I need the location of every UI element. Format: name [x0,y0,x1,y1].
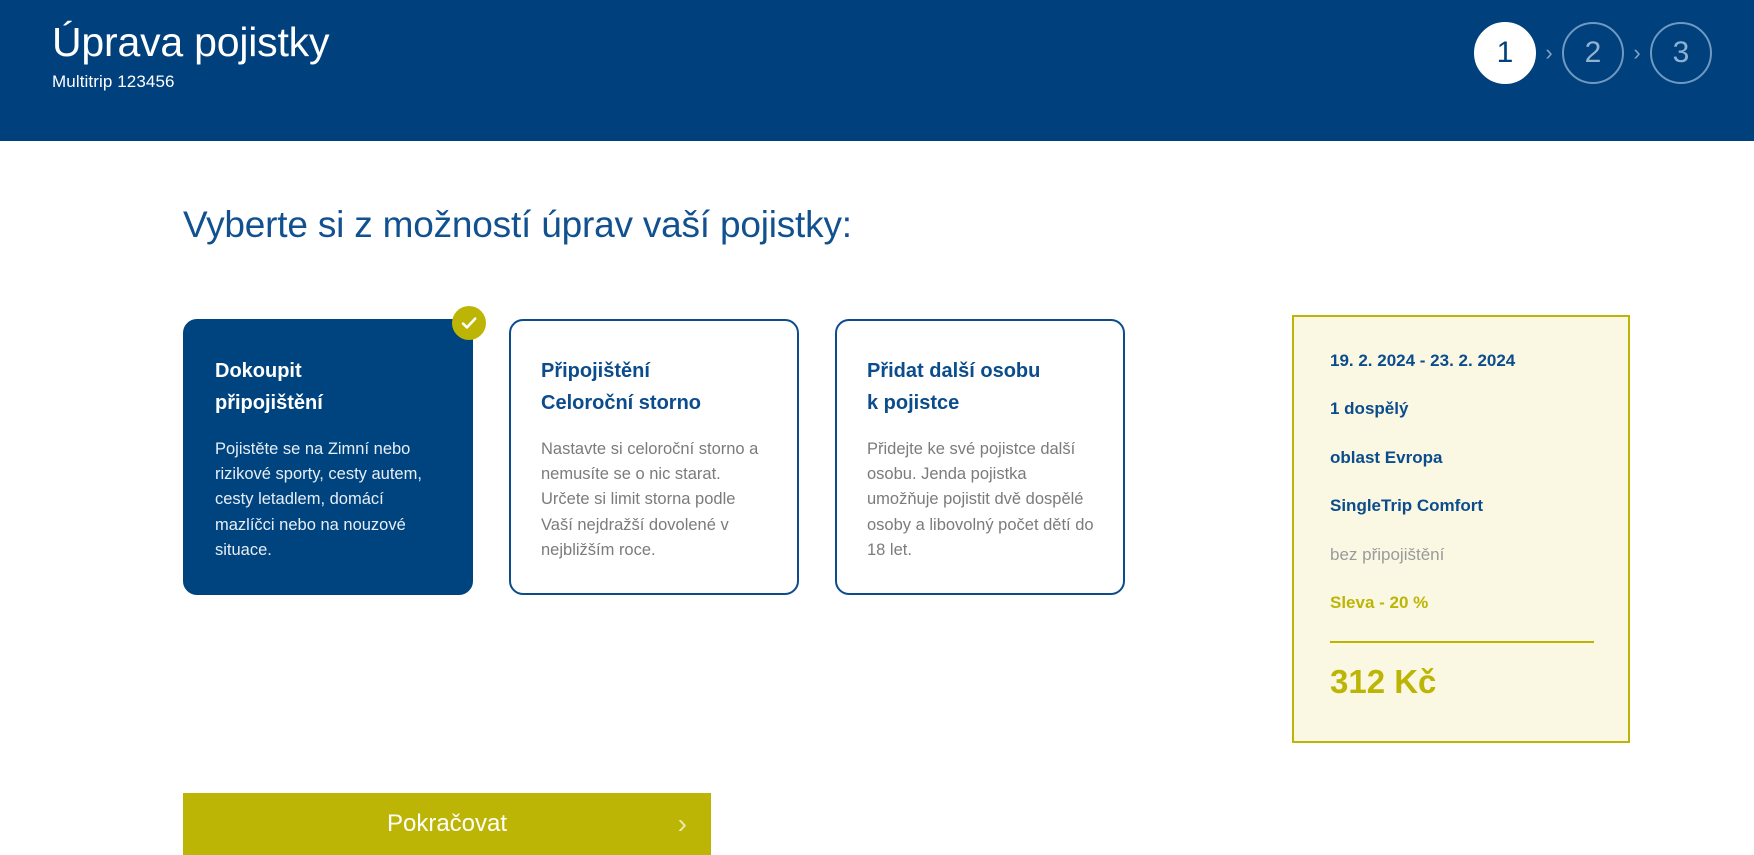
option-card-celorocni-storno[interactable]: Připojištění Celoroční storno Nastavte s… [509,319,799,595]
step-3[interactable]: 3 [1650,22,1712,84]
summary-divider [1330,641,1594,643]
step-separator-2-icon: › [1624,42,1650,64]
option-card-title: Připojištění Celoroční storno [541,355,769,419]
policy-reference: Multitrip 123456 [52,72,329,92]
summary-discount: Sleva - 20 % [1330,593,1592,613]
check-icon [452,306,486,340]
option-card-description: Nastavte si celoroční storno a nemusíte … [541,437,769,563]
step-2[interactable]: 2 [1562,22,1624,84]
policy-summary-panel: 19. 2. 2024 - 23. 2. 2024 1 dospělý obla… [1292,315,1630,743]
summary-total-price: 312 Kč [1330,665,1592,698]
summary-product: SingleTrip Comfort [1330,496,1592,516]
step-1[interactable]: 1 [1474,22,1536,84]
section-heading: Vyberte si z možností úprav vaší pojistk… [183,204,852,246]
summary-region: oblast Evropa [1330,448,1592,468]
option-card-description: Přidejte ke své pojistce další osobu. Je… [867,437,1095,563]
option-card-description: Pojistěte se na Zimní nebo rizikové spor… [215,437,443,563]
step-indicator: 1 › 2 › 3 [1474,0,1754,84]
option-card-pridat-osobu[interactable]: Přidat další osobu k pojistce Přidejte k… [835,319,1125,595]
page-root: Úprava pojistky Multitrip 123456 1 › 2 ›… [0,0,1754,796]
main-content: Vyberte si z možností úprav vaší pojistk… [0,141,1754,796]
continue-button-label: Pokračovat [387,810,507,838]
option-card-title: Přidat další osobu k pojistce [867,355,1095,419]
page-title: Úprava pojistky [52,18,329,66]
summary-addons: bez připojištění [1330,545,1592,565]
option-card-list: Dokoupit připojištění Pojistěte se na Zi… [183,319,1125,595]
step-separator-1-icon: › [1536,42,1562,64]
page-header: Úprava pojistky Multitrip 123456 1 › 2 ›… [0,0,1754,141]
summary-date-range: 19. 2. 2024 - 23. 2. 2024 [1330,351,1592,371]
option-card-dokoupit-pripojisteni[interactable]: Dokoupit připojištění Pojistěte se na Zi… [183,319,473,595]
continue-button[interactable]: Pokračovat › [183,793,711,855]
header-title-group: Úprava pojistky Multitrip 123456 [0,0,329,92]
summary-travellers: 1 dospělý [1330,399,1592,419]
option-card-title: Dokoupit připojištění [215,355,443,419]
chevron-right-icon: › [678,810,687,838]
